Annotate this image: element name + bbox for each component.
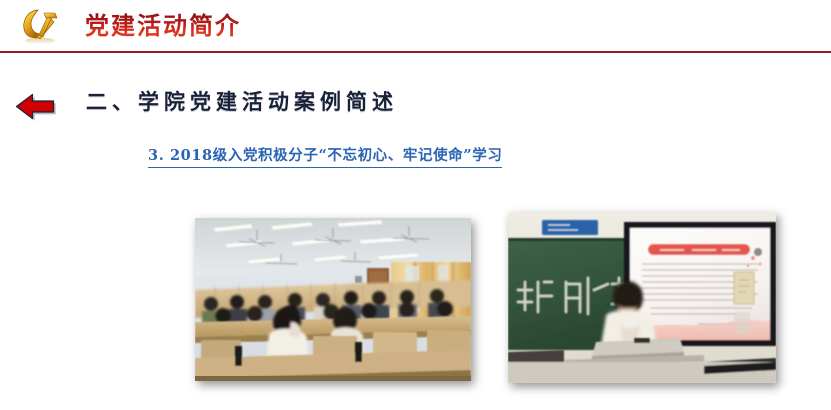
classroom-audience-photo (195, 218, 471, 381)
section-heading-row: 二、学院党建活动案例简述 (0, 84, 831, 126)
slide-header: 党建活动简介 (0, 0, 831, 52)
header-divider (0, 51, 831, 53)
subtitle-link[interactable]: 3. 2018级入党积极分子“不忘初心、牢记使命”学习 (148, 144, 502, 168)
section-title: 二、学院党建活动案例简述 (86, 86, 398, 116)
left-arrow-icon (14, 90, 66, 122)
page-title: 党建活动简介 (85, 12, 241, 42)
party-emblem-icon (18, 6, 66, 48)
presenter-chalkboard-photo (508, 212, 776, 383)
